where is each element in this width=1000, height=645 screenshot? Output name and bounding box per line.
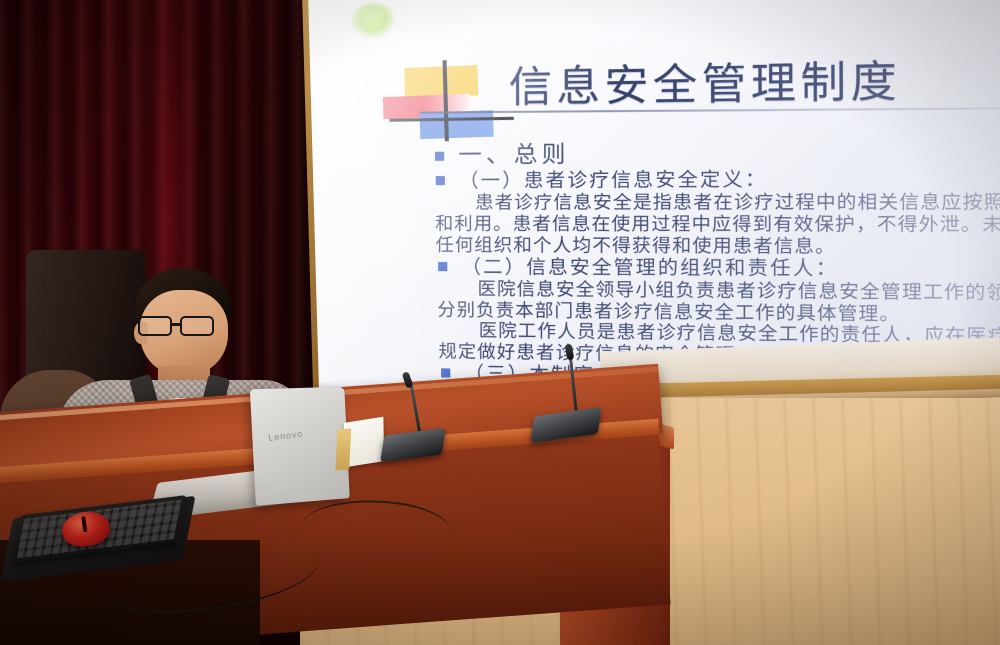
slide-line-text: 一、总则 — [458, 142, 569, 169]
desk-card — [344, 417, 384, 468]
laptop-lid[interactable]: Lenovo — [250, 387, 350, 506]
bullet-icon — [438, 262, 447, 271]
slide-line-text: （二）信息安全管理的组织和责任人： — [462, 256, 839, 280]
slide-line: 和利用。患者信息在使用过程中应得到有效保护，不得外泄。未经有效授权或批准， — [435, 216, 1000, 237]
slide-decoration-icon — [382, 62, 498, 139]
presentation-scene: 信息安全管理制度 一、总则 （一）患者诊疗信息安全定义： 患者诊疗信息安全是指患… — [0, 0, 1000, 645]
slide-line: 一、总则 — [435, 139, 1000, 168]
slide-line-text: 任何组织和个人均不得获得和使用患者信息。 — [436, 235, 836, 258]
laptop-brand-label: Lenovo — [268, 429, 304, 443]
slide-line-text: 和利用。患者信息在使用过程中应得到有效保护，不得外泄。未经有效授权或批准， — [435, 214, 1000, 237]
bullet-icon — [436, 176, 445, 185]
slide-line: （二）信息安全管理的组织和责任人： — [438, 258, 1000, 281]
bullet-icon — [435, 152, 444, 161]
slide-line-text: 患者诊疗信息安全是指患者在诊疗过程中的相关信息应按照有关规定采集、传递 — [475, 191, 1000, 214]
slide-line-text: （一）患者诊疗信息安全定义： — [459, 168, 767, 192]
slide-title: 信息安全管理制度 — [509, 46, 902, 115]
bullet-icon — [441, 369, 450, 378]
eyeglasses-icon — [136, 316, 230, 338]
slide-line: （一）患者诊疗信息安全定义： — [436, 169, 1000, 192]
slide-line: 患者诊疗信息安全是指患者在诊疗过程中的相关信息应按照有关规定采集、传递 — [434, 194, 1000, 214]
